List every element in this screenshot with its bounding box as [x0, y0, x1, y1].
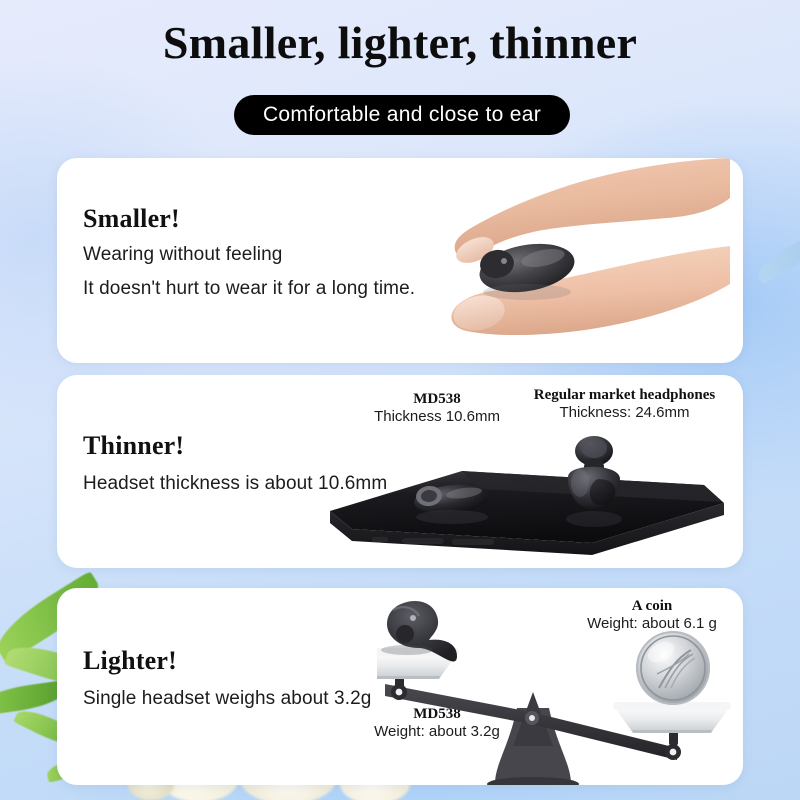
- scale-right-pan: [613, 702, 731, 733]
- label-regular-name: Regular market headphones: [502, 387, 743, 404]
- promo-page: Smaller, lighter, thinner Comfortable an…: [0, 0, 800, 800]
- label-md538-name: MD538: [347, 391, 527, 408]
- earbud-regular-image: [566, 436, 622, 527]
- background-leaf-right: [744, 250, 800, 370]
- phone-speaker: [372, 537, 388, 542]
- phone-port: [452, 539, 494, 545]
- card-smaller: Smaller! Wearing without feeling It does…: [57, 158, 743, 363]
- subtitle-text: Comfortable and close to ear: [263, 103, 541, 127]
- thumb-shape: [455, 158, 730, 258]
- page-title: Smaller, lighter, thinner: [0, 16, 800, 69]
- card-smaller-line-2: It doesn't hurt to wear it for a long ti…: [83, 278, 415, 300]
- subtitle-badge: Comfortable and close to ear: [234, 95, 570, 135]
- card-smaller-heading: Smaller!: [83, 204, 180, 234]
- card-thinner-heading: Thinner!: [83, 431, 184, 461]
- phone-port: [402, 538, 444, 544]
- label-md538-spec: Thickness 10.6mm: [347, 408, 527, 425]
- card-thinner: Thinner! Headset thickness is about 10.6…: [57, 375, 743, 568]
- hand-holding-earbud-image: [375, 158, 735, 363]
- card-lighter-heading: Lighter!: [83, 646, 177, 676]
- card-smaller-line-1: Wearing without feeling: [83, 244, 282, 266]
- balance-scale-image: [377, 596, 737, 785]
- earbud-on-pan-image: [381, 601, 457, 661]
- label-regular-spec: Thickness: 24.6mm: [502, 404, 743, 421]
- leaf-icon: [753, 235, 800, 284]
- label-md538-thickness: MD538 Thickness 10.6mm: [347, 391, 527, 425]
- coin-image: [636, 631, 710, 705]
- earbud-md538-image: [413, 481, 492, 524]
- card-thinner-line-1: Headset thickness is about 10.6mm: [83, 473, 387, 495]
- label-regular-thickness: Regular market headphones Thickness: 24.…: [502, 387, 743, 421]
- card-lighter-line-1: Single headset weighs about 3.2g: [83, 688, 371, 710]
- card-lighter: Lighter! Single headset weighs about 3.2…: [57, 588, 743, 785]
- phone-with-two-earbuds-image: [312, 433, 742, 563]
